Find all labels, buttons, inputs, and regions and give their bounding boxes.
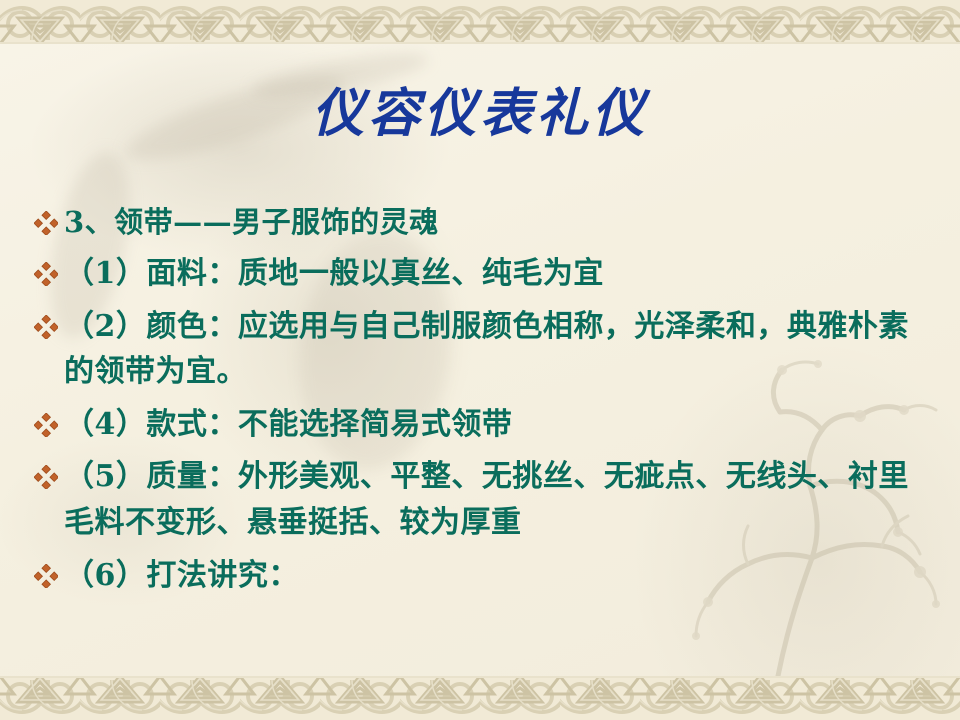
slide-canvas: 仪容仪表礼仪 3、领带——男子服饰的灵魂 bbox=[0, 0, 960, 720]
slide-title: 仪容仪表礼仪 bbox=[0, 86, 960, 142]
decorative-border-top bbox=[0, 0, 960, 44]
list-item: （2）颜色：应选用与自己制服颜色相称，光泽柔和，典雅朴素的领带为宜。 bbox=[34, 304, 934, 395]
list-item: （1）面料：质地一般以真丝、纯毛为宜 bbox=[34, 251, 934, 297]
diamond-cluster-icon bbox=[34, 211, 64, 235]
list-item-text: （5）质量：外形美观、平整、无挑丝、无疵点、无线头、衬里毛料不变形、悬垂挺括、较… bbox=[64, 454, 934, 545]
list-item-text: 3、领带——男子服饰的灵魂 bbox=[64, 200, 934, 244]
bullet-list: 3、领带——男子服饰的灵魂 （1）面料：质地一般以真丝、纯毛为宜 bbox=[34, 200, 934, 605]
list-item: （5）质量：外形美观、平整、无挑丝、无疵点、无线头、衬里毛料不变形、悬垂挺括、较… bbox=[34, 454, 934, 545]
diamond-cluster-icon bbox=[34, 413, 64, 437]
list-item-text: （2）颜色：应选用与自己制服颜色相称，光泽柔和，典雅朴素的领带为宜。 bbox=[64, 304, 934, 395]
diamond-cluster-icon bbox=[34, 262, 64, 286]
list-item-text: （1）面料：质地一般以真丝、纯毛为宜 bbox=[64, 251, 934, 297]
list-item-text: （4）款式：不能选择简易式领带 bbox=[64, 402, 934, 448]
list-item: （6）打法讲究： bbox=[34, 553, 934, 599]
decorative-border-bottom bbox=[0, 676, 960, 720]
list-item-text: （6）打法讲究： bbox=[64, 553, 934, 599]
list-item: （4）款式：不能选择简易式领带 bbox=[34, 402, 934, 448]
diamond-cluster-icon bbox=[34, 315, 64, 339]
diamond-cluster-icon bbox=[34, 465, 64, 489]
diamond-cluster-icon bbox=[34, 564, 64, 588]
list-item: 3、领带——男子服饰的灵魂 bbox=[34, 200, 934, 244]
